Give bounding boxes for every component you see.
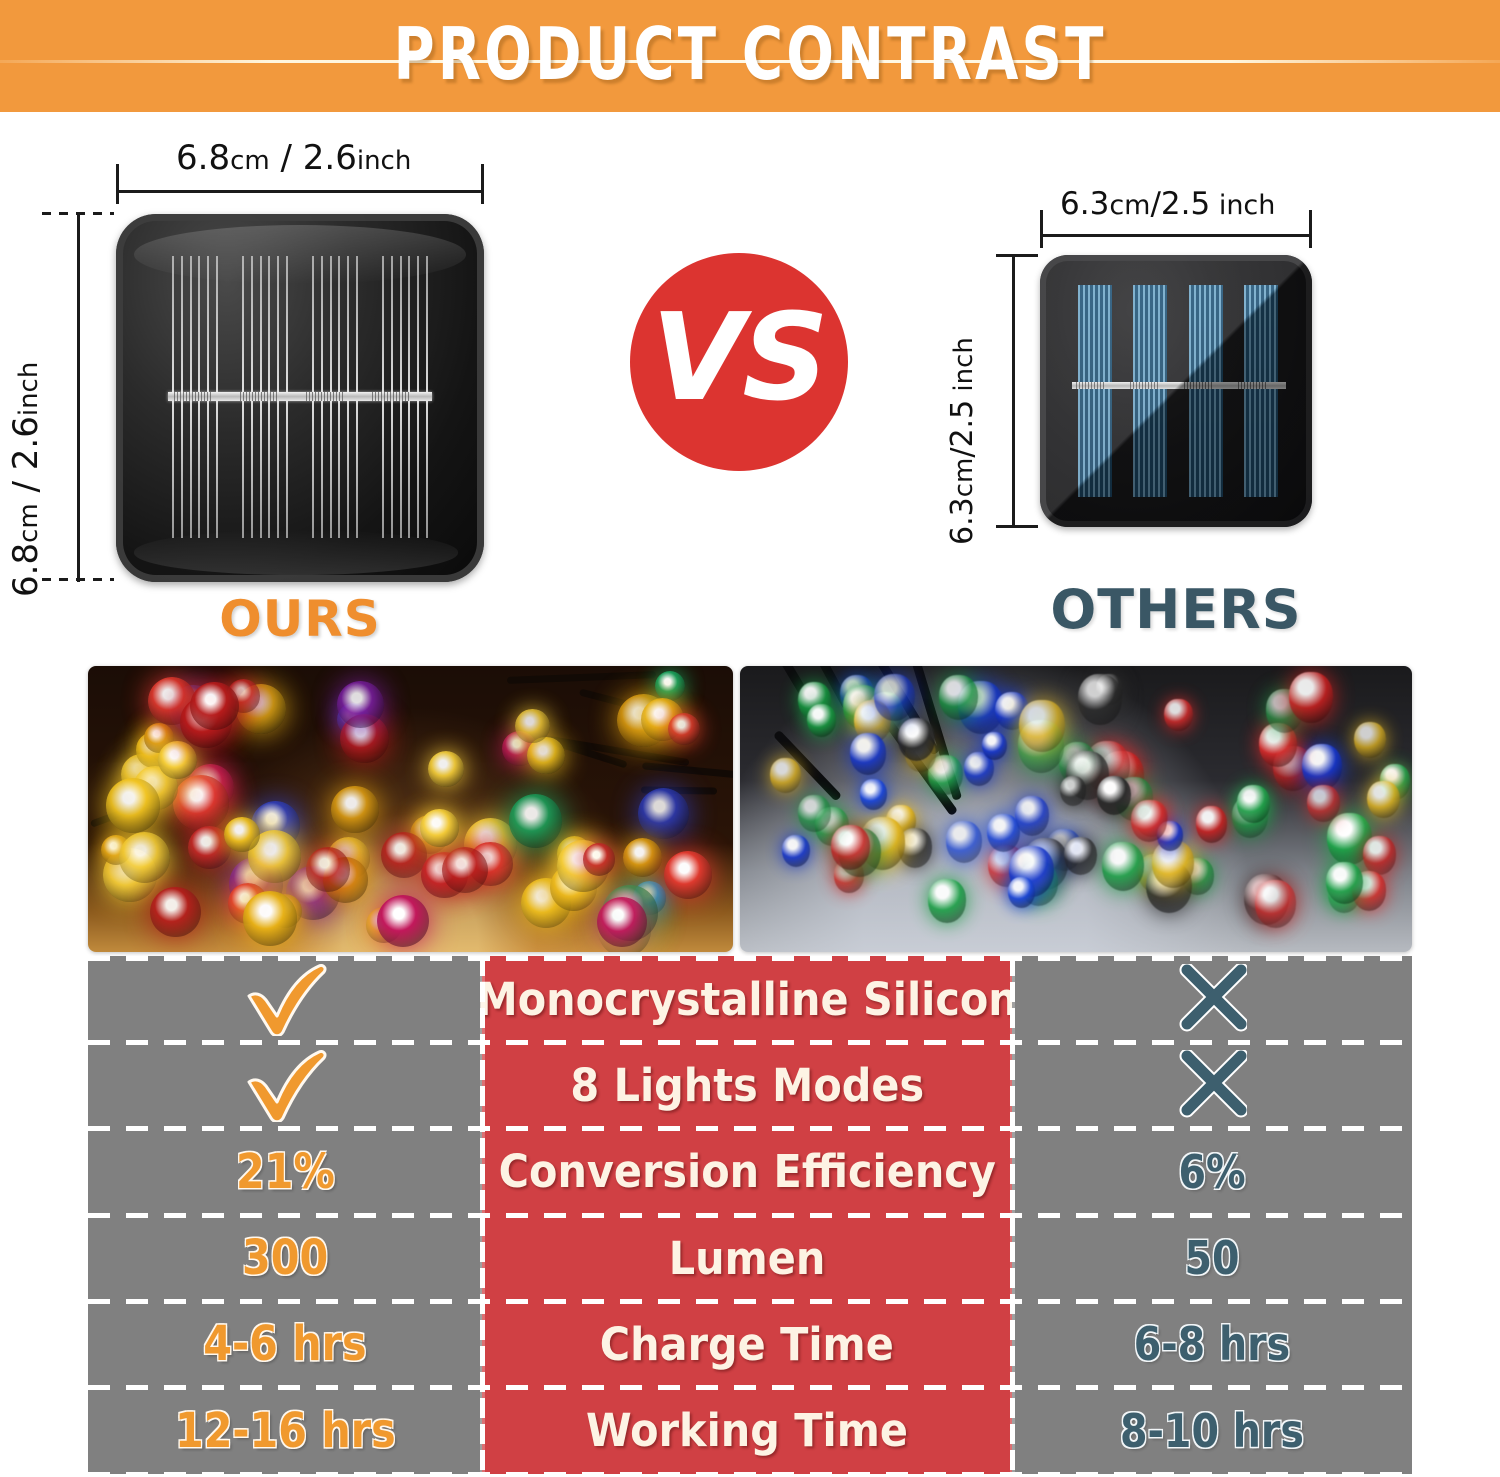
led-wire <box>642 762 733 783</box>
led-bulb <box>1302 744 1342 790</box>
table-row-separator <box>88 1472 1412 1477</box>
vs-badge: VS <box>630 253 848 471</box>
led-bulb <box>1060 776 1086 806</box>
led-bulb <box>515 709 549 743</box>
table-cell-feature: Monocrystalline Silicon <box>482 956 1012 1042</box>
led-bulb <box>1064 837 1097 875</box>
ours-label: OURS <box>116 590 484 648</box>
cross-icon <box>1177 964 1247 1034</box>
others-value: 8-10 hrs <box>1120 1404 1304 1458</box>
ours-width-inch-unit: inch <box>357 146 411 176</box>
ours-height-cm-number: 6.8 <box>6 543 46 597</box>
led-bulb <box>928 879 966 922</box>
others-value: 6% <box>1178 1145 1245 1199</box>
led-bulb <box>150 887 201 938</box>
others-width-cm-unit: cm <box>1109 190 1150 221</box>
others-solar-panel-image <box>1040 255 1312 527</box>
led-bulb <box>623 838 662 877</box>
ours-value: 4-6 hrs <box>203 1316 366 1372</box>
led-bulb <box>850 733 886 775</box>
table-cell-others: 6% <box>1012 1129 1412 1215</box>
check-icon <box>239 1048 331 1122</box>
product-photo-strip <box>88 666 1412 952</box>
led-bulb <box>1255 880 1296 927</box>
table-cell-feature: Conversion Efficiency <box>482 1129 1012 1215</box>
led-bulb <box>1019 700 1064 752</box>
others-width-cm-number: 6.3 <box>1060 186 1109 222</box>
others-width-inch-unit: inch <box>1210 190 1275 221</box>
table-cell-feature: Working Time <box>482 1388 1012 1474</box>
led-bulb <box>190 682 238 730</box>
ours-width-cap-left <box>116 164 119 204</box>
table-cell-others <box>1012 956 1412 1042</box>
table-row-separator <box>88 1213 1412 1218</box>
ours-width-dimension-label: 6.8cm / 2.6inch <box>176 138 411 178</box>
led-bulb <box>1307 785 1339 822</box>
table-cell-ours <box>88 1042 482 1128</box>
led-bulb <box>1363 836 1397 875</box>
header-banner: PRODUCT CONTRAST <box>0 0 1500 112</box>
led-bulb <box>420 809 459 848</box>
table-column-separator <box>480 956 485 1474</box>
led-bulb <box>306 847 351 892</box>
table-cell-others: 8-10 hrs <box>1012 1388 1412 1474</box>
table-row: 8 Lights Modes <box>88 1042 1412 1128</box>
table-row: 12-16 hrsWorking Time8-10 hrs <box>88 1388 1412 1474</box>
ours-height-inch-unit: inch <box>14 362 44 416</box>
led-bulb <box>982 732 1007 760</box>
led-bulb <box>224 817 260 853</box>
table-row: 21%Conversion Efficiency6% <box>88 1129 1412 1215</box>
led-bulb <box>1097 776 1131 815</box>
others-panel-diagonal-glare <box>1040 255 1312 527</box>
led-bulb <box>798 795 830 832</box>
led-bulb <box>243 891 298 946</box>
led-bulb <box>668 713 700 745</box>
table-row-separator <box>88 1126 1412 1131</box>
ours-height-cm-unit: cm <box>14 503 44 543</box>
led-bulb <box>1164 699 1192 731</box>
others-width-cap-left <box>1040 210 1043 248</box>
table-cell-feature: Lumen <box>482 1215 1012 1301</box>
table-row: 4-6 hrsCharge Time6-8 hrs <box>88 1301 1412 1387</box>
table-row-separator <box>88 956 1412 961</box>
ours-height-inch-number: 2.6 <box>6 416 46 470</box>
table-row-separator <box>88 1385 1412 1390</box>
cross-icon <box>1177 1050 1247 1120</box>
others-value: 50 <box>1184 1231 1239 1285</box>
feature-label: Monocrystalline Silicon <box>476 973 1017 1026</box>
led-bulb <box>331 786 378 833</box>
table-row: 300Lumen50 <box>88 1215 1412 1301</box>
led-bulb <box>770 758 800 793</box>
ours-panel-busbar <box>168 392 432 401</box>
ours-width-cm-unit: cm <box>230 146 270 176</box>
led-bulb <box>428 751 464 787</box>
table-row-separator <box>88 1299 1412 1304</box>
ours-value: 300 <box>242 1230 328 1286</box>
others-label: OTHERS <box>1040 578 1312 641</box>
led-bulb <box>381 832 427 878</box>
led-bulb <box>655 671 685 701</box>
ours-led-photo <box>88 666 733 952</box>
led-bulb <box>106 778 161 833</box>
feature-label: Lumen <box>669 1232 826 1285</box>
comparison-table: Monocrystalline Silicon8 Lights Modes21%… <box>88 956 1412 1474</box>
led-bulb <box>1078 674 1122 725</box>
others-height-dimension-label: 6.3cm/2.5 inch <box>945 337 980 545</box>
check-icon <box>239 962 331 1036</box>
others-width-cap-right <box>1309 210 1312 248</box>
ours-value: 12-16 hrs <box>175 1403 396 1459</box>
page-title: PRODUCT CONTRAST <box>165 0 1335 112</box>
ours-width-inch-number: 2.6 <box>303 138 357 178</box>
led-bulb <box>509 794 563 848</box>
table-row: Monocrystalline Silicon <box>88 956 1412 1042</box>
led-bulb <box>664 851 712 899</box>
led-bulb <box>946 821 983 863</box>
table-cell-feature: Charge Time <box>482 1301 1012 1387</box>
led-bulb <box>1367 781 1400 819</box>
table-column-separator <box>1010 956 1015 1474</box>
table-cell-others: 50 <box>1012 1215 1412 1301</box>
led-bulb <box>1326 862 1363 904</box>
led-bulb <box>173 775 229 831</box>
led-bulb <box>987 814 1020 852</box>
ours-height-dimension-label: 6.8cm / 2.6inch <box>6 362 46 597</box>
others-led-photo <box>740 666 1412 952</box>
led-bulb <box>638 788 689 839</box>
table-cell-others: 6-8 hrs <box>1012 1301 1412 1387</box>
led-bulb <box>782 835 810 867</box>
led-bulb <box>1237 785 1270 822</box>
ours-solar-panel-image <box>116 214 484 582</box>
others-height-cm-number: 6.3 <box>945 497 980 545</box>
table-row-separator <box>88 1040 1412 1045</box>
led-bulb <box>442 847 488 893</box>
others-width-dimension-line <box>1040 234 1312 237</box>
feature-label: Working Time <box>586 1404 908 1457</box>
table-cell-ours: 21% <box>88 1129 482 1215</box>
ours-value: 21% <box>236 1144 335 1200</box>
led-bulb <box>583 843 615 875</box>
led-bulb <box>158 741 197 780</box>
others-width-dimension-label: 6.3cm/2.5 inch <box>1060 186 1275 222</box>
ours-width-cap-right <box>481 164 484 204</box>
others-height-cap-top <box>996 254 1038 257</box>
feature-label: Conversion Efficiency <box>498 1145 995 1198</box>
ours-height-dimension-line <box>77 212 80 582</box>
table-cell-feature: 8 Lights Modes <box>482 1042 1012 1128</box>
led-bulb <box>1102 842 1144 891</box>
ours-width-cm-number: 6.8 <box>176 138 230 178</box>
panel-comparison-section: 6.8cm / 2.6inch 6.8cm / 2.6inch OURS VS <box>0 112 1500 666</box>
others-height-cm-unit: cm <box>949 458 979 498</box>
others-height-inch-number: 2.5 <box>945 400 980 448</box>
table-cell-ours: 300 <box>88 1215 482 1301</box>
table-cell-ours: 12-16 hrs <box>88 1388 482 1474</box>
others-value: 6-8 hrs <box>1134 1317 1290 1371</box>
led-bulb <box>1354 722 1386 759</box>
others-height-cap-bottom <box>996 525 1038 528</box>
led-bulb <box>860 779 886 809</box>
feature-label: 8 Lights Modes <box>570 1059 924 1112</box>
led-bulb <box>807 704 836 738</box>
others-height-dimension-line <box>1012 254 1015 527</box>
vs-label: VS <box>651 289 826 428</box>
led-bulb <box>597 897 647 947</box>
feature-label: Charge Time <box>600 1318 894 1371</box>
table-cell-ours: 4-6 hrs <box>88 1301 482 1387</box>
led-bulb <box>898 718 935 761</box>
table-cell-others <box>1012 1042 1412 1128</box>
led-bulb <box>377 895 429 947</box>
led-bulb <box>1196 806 1228 842</box>
led-bulb <box>119 832 170 883</box>
others-width-inch-number: 2.5 <box>1161 186 1210 222</box>
led-bulb <box>1289 672 1333 723</box>
table-cell-ours <box>88 956 482 1042</box>
ours-width-dimension-line <box>116 190 484 193</box>
product-contrast-infographic: PRODUCT CONTRAST 6.8cm / 2.6inch 6.8cm /… <box>0 0 1500 1477</box>
led-wire <box>507 671 656 684</box>
others-height-inch-unit: inch <box>949 337 979 400</box>
